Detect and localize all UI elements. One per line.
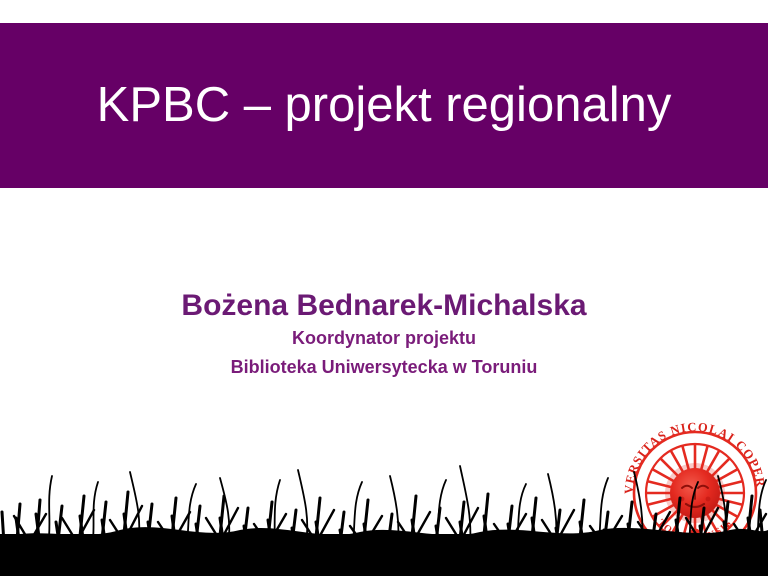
presenter-name: Bożena Bednarek-Michalska (0, 288, 768, 323)
page-title: KPBC – projekt regionalny (0, 23, 768, 188)
presentation-slide: KPBC – projekt regionalny Bożena Bednare… (0, 0, 768, 576)
seal-sun-face (670, 468, 720, 518)
seal-pendant (689, 529, 702, 542)
university-seal-icon: UNIVERSITAS NICOLAI COPERNICI TORUNIENSI… (620, 418, 768, 568)
presenter-role: Koordynator projektu (0, 325, 768, 352)
subtitle-block: Bożena Bednarek-Michalska Koordynator pr… (0, 288, 768, 381)
presenter-affiliation: Biblioteka Uniwersytecka w Toruniu (0, 354, 768, 381)
title-band: KPBC – projekt regionalny (0, 23, 768, 188)
